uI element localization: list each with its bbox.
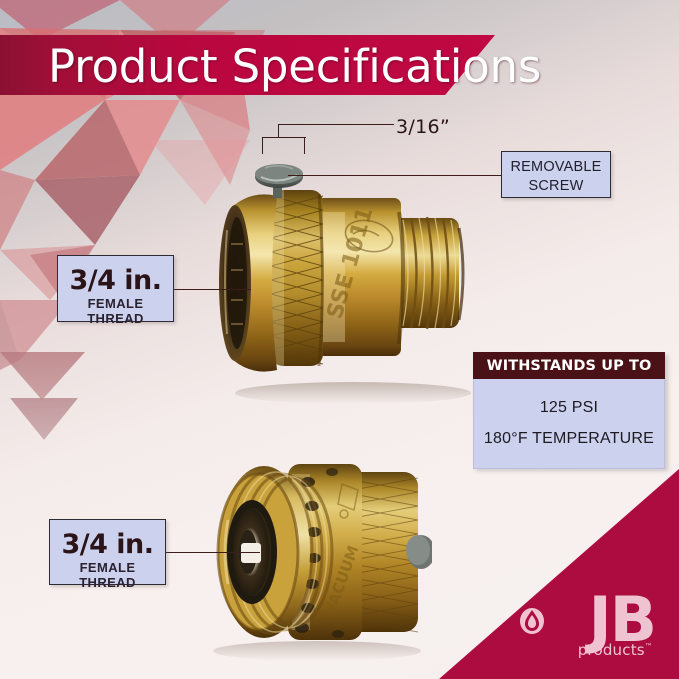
logo-wordmark-products: products™	[578, 641, 653, 659]
dimension-tick-left	[262, 137, 263, 154]
thread-type-label-top: FEMALE THREAD	[58, 296, 173, 326]
callout-thread-size-bottom: 3/4 in. FEMALE THREAD	[49, 519, 166, 585]
logo-products-text: products	[578, 641, 645, 659]
flame-droplet-icon	[519, 603, 545, 635]
withstands-row-pressure: 125 PSI	[540, 399, 598, 417]
thread-bottom-leader-line	[165, 552, 260, 553]
screw-leader-line	[288, 175, 502, 176]
logo-trademark-symbol: ™	[645, 642, 653, 651]
withstands-body: 125 PSI 180°F TEMPERATURE	[473, 379, 665, 469]
thread-size-value-bottom: 3/4 in.	[50, 531, 165, 559]
callout-thread-size-top: 3/4 in. FEMALE THREAD	[57, 255, 174, 322]
jb-products-logo: JB products™	[511, 581, 661, 665]
withstands-heading: WITHSTANDS UP TO	[473, 352, 665, 379]
withstands-panel: WITHSTANDS UP TO 125 PSI 180°F TEMPERATU…	[473, 352, 665, 468]
dimension-riser	[278, 124, 279, 138]
thread-top-leader-line	[173, 289, 251, 290]
thread-size-value-top: 3/4 in.	[58, 267, 173, 295]
product-photo-top-fitting: SSE 1011	[213, 160, 473, 405]
dimension-leader	[278, 124, 394, 125]
dimension-label-3-16: 3/16”	[396, 116, 450, 138]
removable-screw-line2: SCREW	[502, 177, 610, 196]
product-specifications-infographic: Product Specifications	[0, 0, 679, 679]
thread-type-label-bottom: FEMALE THREAD	[50, 560, 165, 590]
removable-screw-line1: REMOVABLE	[502, 158, 610, 177]
page-title: Product Specifications	[48, 44, 541, 89]
product-photo-bottom-fitting: VACUUM	[192, 448, 432, 663]
dimension-tick-right	[304, 137, 305, 154]
withstands-row-temperature: 180°F TEMPERATURE	[484, 430, 654, 448]
callout-removable-screw: REMOVABLE SCREW	[501, 151, 611, 198]
dimension-bracket	[262, 137, 306, 138]
